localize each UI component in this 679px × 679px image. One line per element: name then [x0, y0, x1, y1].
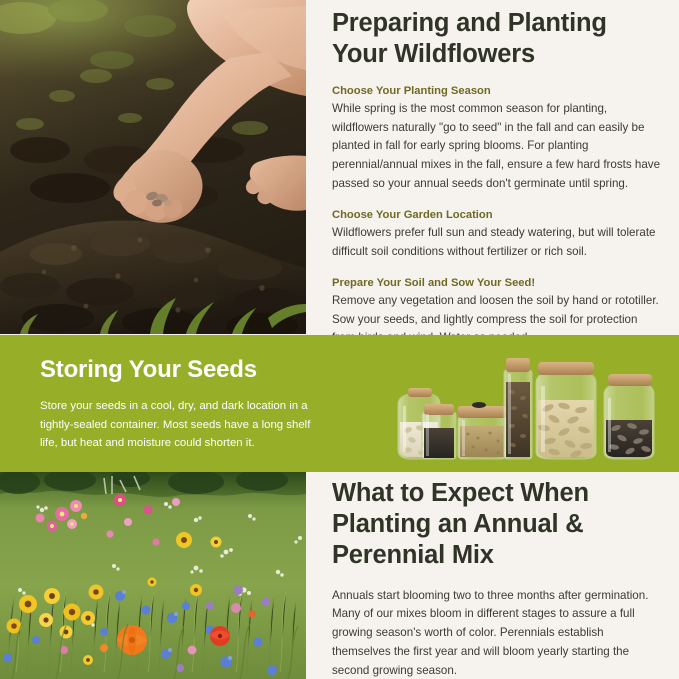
storing-body: Store your seeds in a cool, dry, and dar…: [40, 397, 330, 453]
storing-section-text: Storing Your Seeds Store your seeds in a…: [40, 356, 330, 453]
what-to-expect-heading: What to Expect When Planting an Annual &…: [332, 478, 663, 571]
subheading-prepare-soil: Prepare Your Soil and Sow Your Seed!: [332, 275, 663, 291]
bottom-gutter: [306, 472, 332, 679]
preparing-heading: Preparing and Planting Your Wildflowers: [332, 8, 663, 70]
body-garden-location: Wildflowers prefer full sun and steady w…: [332, 224, 663, 262]
seed-storage-jars-photo: [378, 346, 672, 465]
storing-heading: Storing Your Seeds: [40, 356, 330, 384]
subheading-garden-location: Choose Your Garden Location: [332, 207, 663, 223]
what-to-expect-body: Annuals start blooming two to three mont…: [332, 587, 663, 679]
hand-sowing-seeds-in-soil-photo: [0, 0, 306, 334]
wildflower-meadow-photo: [0, 472, 306, 679]
body-planting-season: While spring is the most common season f…: [332, 100, 663, 194]
what-to-expect-section-text: What to Expect When Planting an Annual &…: [332, 478, 663, 679]
preparing-section-text: Preparing and Planting Your Wildflowers …: [332, 8, 663, 348]
top-gutter: [306, 0, 332, 334]
subheading-planting-season: Choose Your Planting Season: [332, 83, 663, 99]
infographic-page: Preparing and Planting Your Wildflowers …: [0, 0, 679, 679]
